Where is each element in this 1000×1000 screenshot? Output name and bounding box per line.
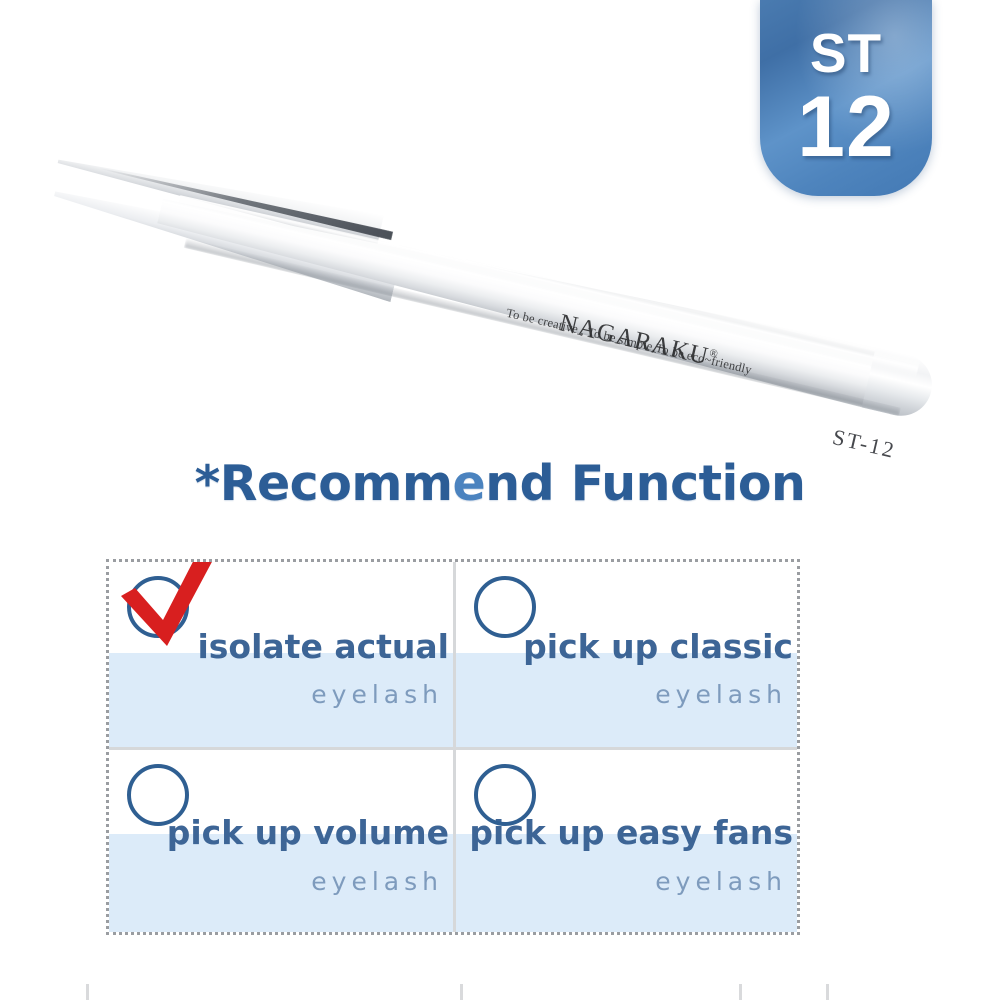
heading-part-1: Recomm: [220, 455, 453, 512]
empty-circle-icon[interactable]: [474, 576, 536, 638]
tweezer-shadow: [184, 238, 902, 415]
function-cell-isolate-actual[interactable]: isolate actual eyelash: [109, 562, 453, 747]
cell-title: pick up volume: [167, 816, 449, 851]
cell-subtitle: eyelash: [311, 680, 449, 709]
heading-part-3: nd Function: [485, 455, 805, 512]
cell-subtitle: eyelash: [655, 680, 793, 709]
tweezer-body: [153, 181, 936, 422]
cell-title: pick up classic: [523, 630, 793, 665]
section-divider-tick: [460, 984, 463, 1000]
cell-subtitle: eyelash: [311, 867, 449, 896]
badge-prefix: ST: [810, 27, 882, 81]
section-divider-tick: [739, 984, 742, 1000]
tweezer-highlight: [178, 188, 920, 377]
size-badge: ST 12: [760, 0, 932, 196]
section-divider-tick: [86, 984, 89, 1000]
cell-subtitle: eyelash: [655, 867, 793, 896]
function-cell-pick-up-volume[interactable]: pick up volume eyelash: [109, 747, 453, 932]
heading-asterisk: *: [195, 455, 220, 512]
cell-title: isolate actual: [197, 630, 449, 665]
function-cell-pick-up-classic[interactable]: pick up classic eyelash: [453, 562, 797, 747]
section-divider-tick: [826, 984, 829, 1000]
red-checkmark-icon: [113, 562, 221, 654]
heading-part-2: e: [453, 455, 486, 512]
product-photo: NAGARAKU® To be creative , To be simple,…: [0, 0, 1000, 445]
badge-number: 12: [797, 85, 895, 169]
empty-circle-icon[interactable]: [127, 764, 189, 826]
recommend-function-heading: *Recommend Function: [0, 455, 1000, 512]
function-cell-pick-up-easy-fans[interactable]: pick up easy fans eyelash: [453, 747, 797, 932]
recommend-function-grid: isolate actual eyelash pick up classic e…: [106, 559, 800, 935]
empty-circle-icon[interactable]: [474, 764, 536, 826]
